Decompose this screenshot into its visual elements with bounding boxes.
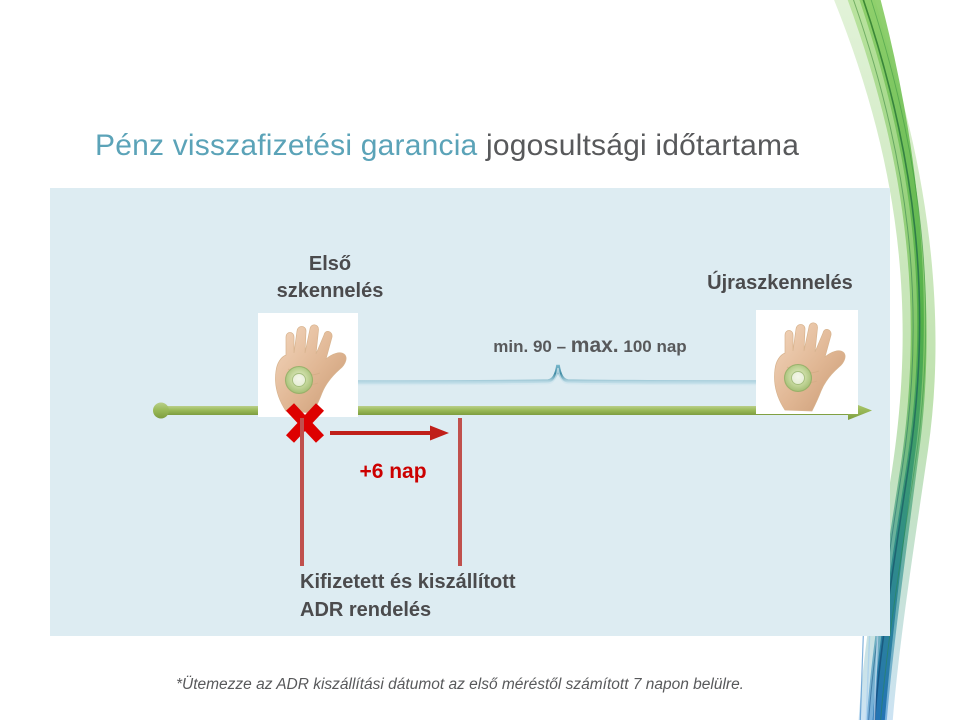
slide-canvas: Pénz visszafizetési garancia jogosultság… [0,0,960,720]
order-bracket-left-line [300,418,304,566]
order-caption-line2: ADR rendelés [300,596,720,624]
red-x-marker [282,400,328,446]
first-scan-label: Első szkennelés [215,251,445,305]
order-bracket-right-line [458,418,462,566]
order-caption-line1: Kifizetett és kiszállított [300,568,720,596]
page-title-accent: Pénz visszafizetési garancia [95,129,477,162]
page-title-rest: jogosultsági időtartama [477,129,799,162]
rescan-label: Újraszkennelés [640,270,920,297]
first-scan-label-line1: Első [215,251,445,278]
curly-brace-icon [352,362,764,392]
offset-arrow [330,424,450,446]
arrow-right-icon [330,424,450,446]
x-mark-icon [282,400,328,446]
page-title: Pénz visszafizetési garancia jogosultság… [95,126,885,166]
interval-min-text: min. 90 – [493,337,570,356]
interval-max-text: 100 nap [619,337,687,356]
first-scan-label-line2: szkennelés [215,278,445,305]
interval-brace [352,362,764,392]
interval-duration-label: min. 90 – max. 100 nap [420,334,760,358]
palm-scan-photo-icon [756,310,858,414]
footnote-text: *Ütemezze az ADR kiszállítási dátumot az… [60,676,860,694]
interval-max-emphasis: max. [571,334,619,357]
offset-days-label: +6 nap [318,460,468,484]
rescan-hand-photo [756,310,858,414]
order-caption: Kifizetett és kiszállított ADR rendelés [300,568,720,624]
